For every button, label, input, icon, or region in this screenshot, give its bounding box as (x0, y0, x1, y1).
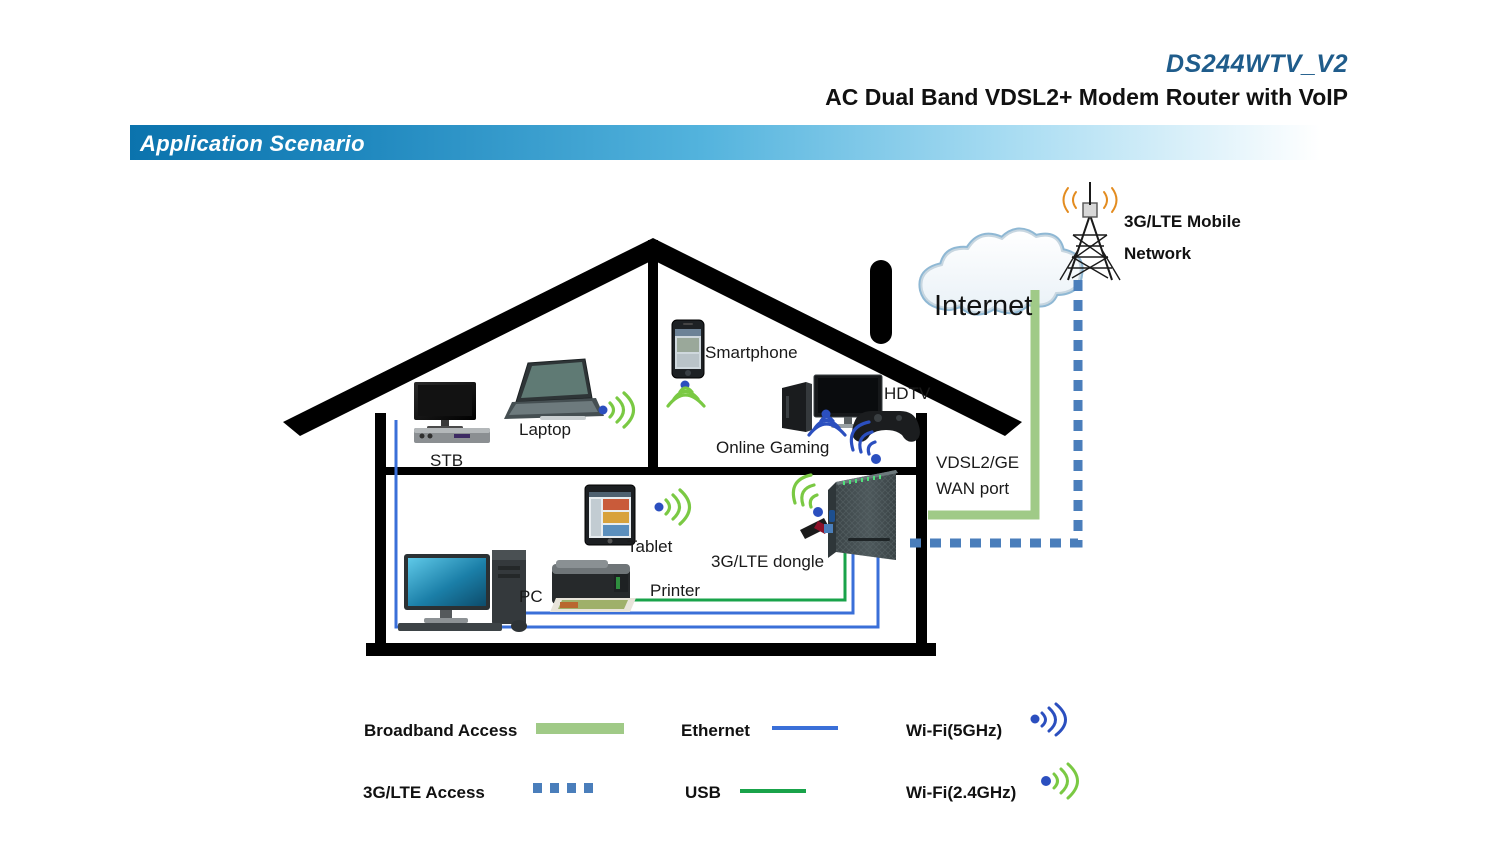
laptop-icon (504, 359, 604, 420)
label-pc: PC (519, 587, 543, 607)
section-banner-label: Application Scenario (140, 131, 365, 157)
label-gaming: Online Gaming (716, 438, 829, 458)
label-printer: Printer (650, 581, 700, 601)
label-wan-port-line2: WAN port (936, 479, 1009, 499)
legend-swatch-broadband (536, 723, 624, 734)
smartphone-icon (672, 320, 704, 378)
tablet-icon (585, 485, 635, 545)
label-mobile-network-line2: Network (1124, 244, 1191, 264)
wifi-24-icon-smartphone (668, 381, 704, 407)
wifi-24-icon-laptop (599, 393, 634, 427)
legend-label-wifi24: Wi-Fi(2.4GHz) (906, 783, 1016, 803)
label-smartphone: Smartphone (705, 343, 798, 363)
game-console-icon (782, 382, 812, 432)
product-title: AC Dual Band VDSL2+ Modem Router with Vo… (825, 84, 1348, 111)
legend-label-lte: 3G/LTE Access (363, 783, 485, 803)
printer-icon (550, 560, 636, 612)
label-mobile-network-line1: 3G/LTE Mobile (1124, 212, 1241, 232)
wifi-24-icon-tablet (655, 490, 690, 524)
wifi-24-icon-router (793, 475, 823, 517)
legend-swatch-ethernet (772, 726, 838, 730)
legend-swatch-usb (740, 789, 806, 793)
label-internet-cloud: Internet (934, 290, 1032, 323)
stb-icon (414, 382, 490, 443)
cell-tower-icon (1060, 182, 1120, 280)
label-hdtv: HDTV (884, 384, 930, 404)
legend-label-ethernet: Ethernet (681, 721, 750, 741)
label-wan-port-line1: VDSL2/GE (936, 453, 1019, 473)
chimney-antenna (870, 260, 892, 344)
legend-label-wifi5: Wi-Fi(5GHz) (906, 721, 1002, 741)
legend-swatch-wifi24 (1037, 763, 1083, 801)
pc-icon (398, 550, 527, 632)
legend-label-usb: USB (685, 783, 721, 803)
model-number: DS244WTV_V2 (1166, 50, 1348, 79)
label-tablet: Tablet (627, 537, 672, 557)
legend-label-broadband: Broadband Access (364, 721, 517, 741)
label-laptop: Laptop (519, 420, 571, 440)
label-stb: STB (430, 451, 463, 471)
section-banner: Application Scenario (130, 125, 1320, 160)
router-icon (828, 470, 898, 560)
legend-swatch-wifi5 (1026, 702, 1070, 738)
label-dongle: 3G/LTE dongle (711, 552, 824, 572)
legend-swatch-lte (533, 783, 599, 793)
